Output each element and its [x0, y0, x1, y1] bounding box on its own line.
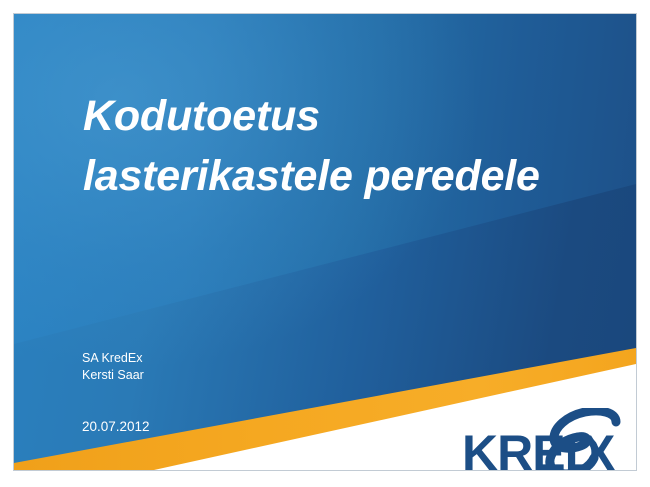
kredex-logo: KRED X [454, 408, 636, 470]
byline-presenter: Kersti Saar [82, 367, 144, 384]
slide-title: Kodutoetus lasterikastele peredele [83, 86, 623, 206]
byline-organization: SA KredEx [82, 350, 144, 367]
slide-date: 20.07.2012 [82, 419, 150, 434]
kredex-logo-icon: KRED X [454, 408, 636, 470]
slide-title-line-1: Kodutoetus [83, 86, 623, 146]
presentation-slide: Kodutoetus lasterikastele peredele SA Kr… [14, 14, 636, 470]
slide-byline: SA KredEx Kersti Saar [82, 350, 144, 384]
slide-title-line-2: lasterikastele peredele [83, 146, 623, 206]
slide-canvas: Kodutoetus lasterikastele peredele SA Kr… [0, 0, 650, 487]
